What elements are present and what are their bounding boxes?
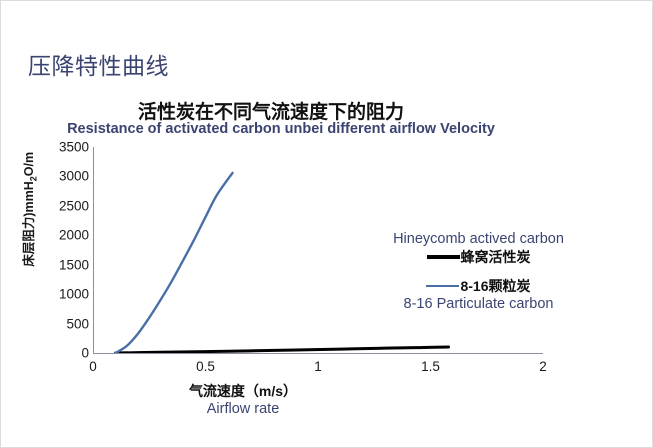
chart-title-chinese: 活性炭在不同气流速度下的阻力: [1, 97, 541, 124]
y-tick-label: 500: [37, 316, 89, 331]
x-tick-label: 1: [314, 359, 322, 374]
x-axis-title-english: Airflow rate: [93, 401, 393, 417]
slide-canvas: 压降特性曲线 活性炭在不同气流速度下的阻力 Resistance of acti…: [0, 0, 653, 448]
legend-label-honeycomb: 蜂窝活性炭: [461, 247, 531, 267]
legend-caption-top: Hineycomb actived carbon: [371, 231, 586, 247]
legend-item-honeycomb: 蜂窝活性炭: [371, 247, 586, 267]
chart-title-english: Resistance of activated carbon unbei dif…: [1, 121, 561, 137]
series-line: [116, 173, 233, 353]
y-axis-tick-labels: 0500100015002000250030003500: [33, 147, 89, 353]
x-axis-tick-labels: 00.511.52: [93, 359, 543, 379]
legend-line-swatch-black: [427, 255, 460, 259]
y-tick-label: 0: [37, 346, 89, 361]
x-tick-label: 2: [539, 359, 547, 374]
y-tick-label: 1000: [37, 287, 89, 302]
y-tick-label: 1500: [37, 257, 89, 272]
series-line: [116, 347, 449, 353]
legend-caption-bottom: 8-16 Particulate carbon: [371, 296, 586, 312]
legend-spacer: [371, 267, 586, 276]
x-tick-label: 0: [89, 359, 97, 374]
x-tick-label: 1.5: [421, 359, 440, 374]
y-tick-label: 3500: [37, 140, 89, 155]
slide-heading: 压降特性曲线: [28, 47, 169, 81]
y-tick-label: 2500: [37, 198, 89, 213]
legend-label-particulate: 8-16颗粒炭: [460, 276, 530, 296]
legend-item-particulate: 8-16颗粒炭: [371, 276, 586, 296]
y-tick-label: 3000: [37, 169, 89, 184]
y-axis-title: 床层阻力)mmH2O/m: [18, 134, 39, 284]
x-axis-title-chinese: 气流速度（m/s）: [93, 381, 393, 401]
chart-legend: Hineycomb actived carbon 蜂窝活性炭 8-16颗粒炭 8…: [371, 231, 586, 312]
legend-line-swatch-blue: [426, 285, 459, 288]
y-tick-label: 2000: [37, 228, 89, 243]
x-axis-line: [93, 353, 543, 354]
x-tick-label: 0.5: [196, 359, 215, 374]
